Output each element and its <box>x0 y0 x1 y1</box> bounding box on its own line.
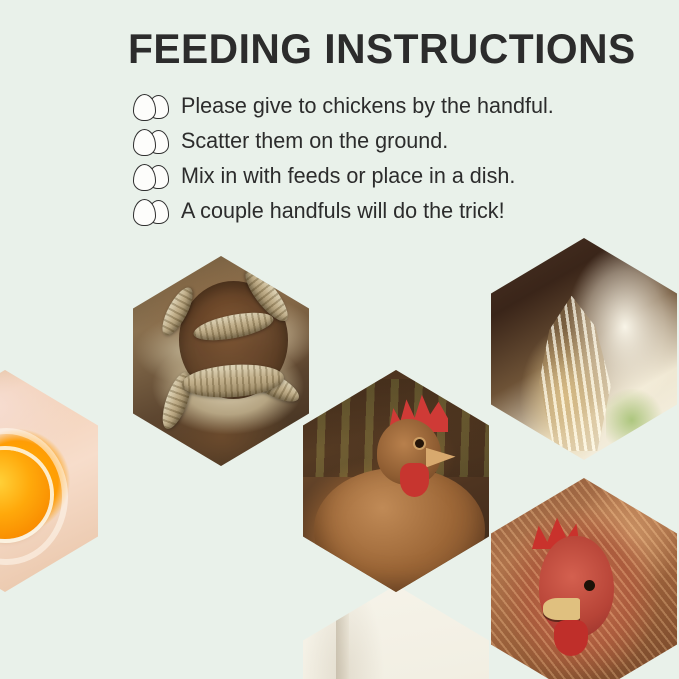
hex-photo-egg-image <box>0 370 98 592</box>
hex-photo-backlit <box>491 238 677 460</box>
hex-photo-rooster <box>303 370 489 592</box>
instructions-list: Please give to chickens by the handful. … <box>131 88 651 228</box>
list-item: Scatter them on the ground. <box>131 123 651 158</box>
list-item: Please give to chickens by the handful. <box>131 88 651 123</box>
hex-photo-backlit-image <box>491 238 677 460</box>
list-item: Mix in with feeds or place in a dish. <box>131 158 651 193</box>
page-title: FEEDING INSTRUCTIONS <box>128 26 636 72</box>
egg-pair-icon <box>131 127 175 155</box>
hen-beak-shape <box>543 598 580 620</box>
hexagon-collage <box>0 230 679 679</box>
header-section: FEEDING INSTRUCTIONS Please give to chic… <box>0 0 679 250</box>
hex-photo-bright-image <box>303 585 489 679</box>
egg-pair-icon <box>131 197 175 225</box>
hex-photo-egg <box>0 370 98 592</box>
poster-root: FEEDING INSTRUCTIONS Please give to chic… <box>0 0 679 679</box>
hex-photo-bright <box>303 585 489 679</box>
list-item-label: Mix in with feeds or place in a dish. <box>181 163 515 189</box>
hen-wattle-shape <box>554 620 587 656</box>
fence-post-shape <box>336 585 349 679</box>
list-item-label: Scatter them on the ground. <box>181 128 448 154</box>
hex-photo-rooster-image <box>303 370 489 592</box>
hex-photo-larvae-image <box>133 256 309 466</box>
foliage-shape <box>606 389 669 451</box>
egg-pair-icon <box>131 92 175 120</box>
list-item-label: A couple handfuls will do the trick! <box>181 198 505 224</box>
list-item-label: Please give to chickens by the handful. <box>181 93 554 119</box>
hex-photo-hen <box>491 478 677 679</box>
rooster-body-shape <box>314 468 485 592</box>
rooster-wattle-shape <box>400 463 430 496</box>
hex-photo-hen-image <box>491 478 677 679</box>
rooster-eye-shape <box>415 439 424 448</box>
hex-photo-larvae <box>133 256 309 466</box>
egg-pair-icon <box>131 162 175 190</box>
list-item: A couple handfuls will do the trick! <box>131 193 651 228</box>
